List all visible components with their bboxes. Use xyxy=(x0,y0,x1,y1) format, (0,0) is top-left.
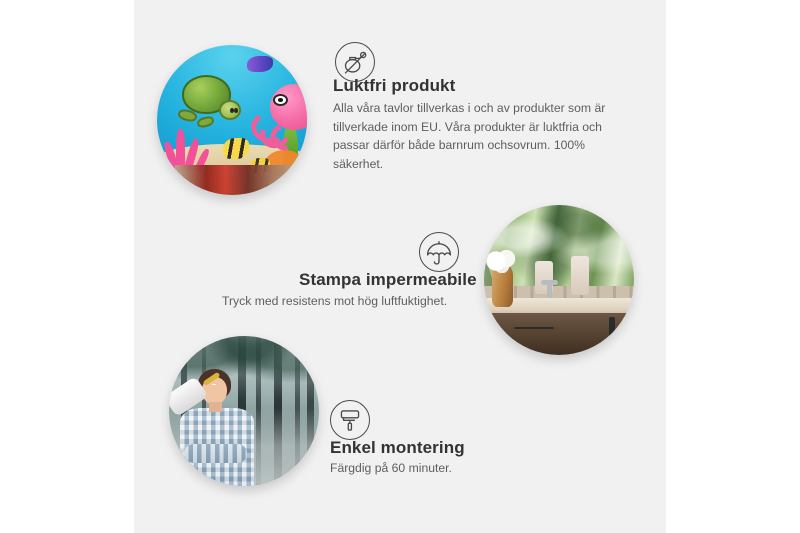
fish-purple xyxy=(247,56,273,73)
product-feature-infographic: Luktfri produkt Alla våra tavlor tillver… xyxy=(0,0,800,533)
content-panel: Luktfri produkt Alla våra tavlor tillver… xyxy=(134,0,666,533)
feature-body: Alla våra tavlor tillverkas i och av pro… xyxy=(333,99,628,173)
feature-image-woman-with-roller xyxy=(169,336,319,486)
photo-strip-edge xyxy=(175,165,307,195)
feature-body: Tryck med resistens mot hög luftfuktighe… xyxy=(222,294,447,308)
octopus xyxy=(256,84,307,150)
lamp xyxy=(571,256,589,295)
feature-image-bathroom-wallpaper xyxy=(484,205,634,355)
feature-title: Stampa impermeabile xyxy=(299,270,477,290)
feature-image-underwater-scene xyxy=(157,45,307,195)
fish-yellow xyxy=(223,138,249,159)
white-flowers xyxy=(486,249,519,273)
wood-cabinet xyxy=(490,313,634,355)
umbrella-icon xyxy=(419,232,459,272)
paint-roller-icon xyxy=(330,400,370,440)
feature-title: Luktfri produkt xyxy=(333,76,455,96)
feature-title: Enkel montering xyxy=(330,438,465,458)
feature-body: Färgdig på 60 minuter. xyxy=(330,461,452,475)
sea-turtle xyxy=(178,75,243,125)
